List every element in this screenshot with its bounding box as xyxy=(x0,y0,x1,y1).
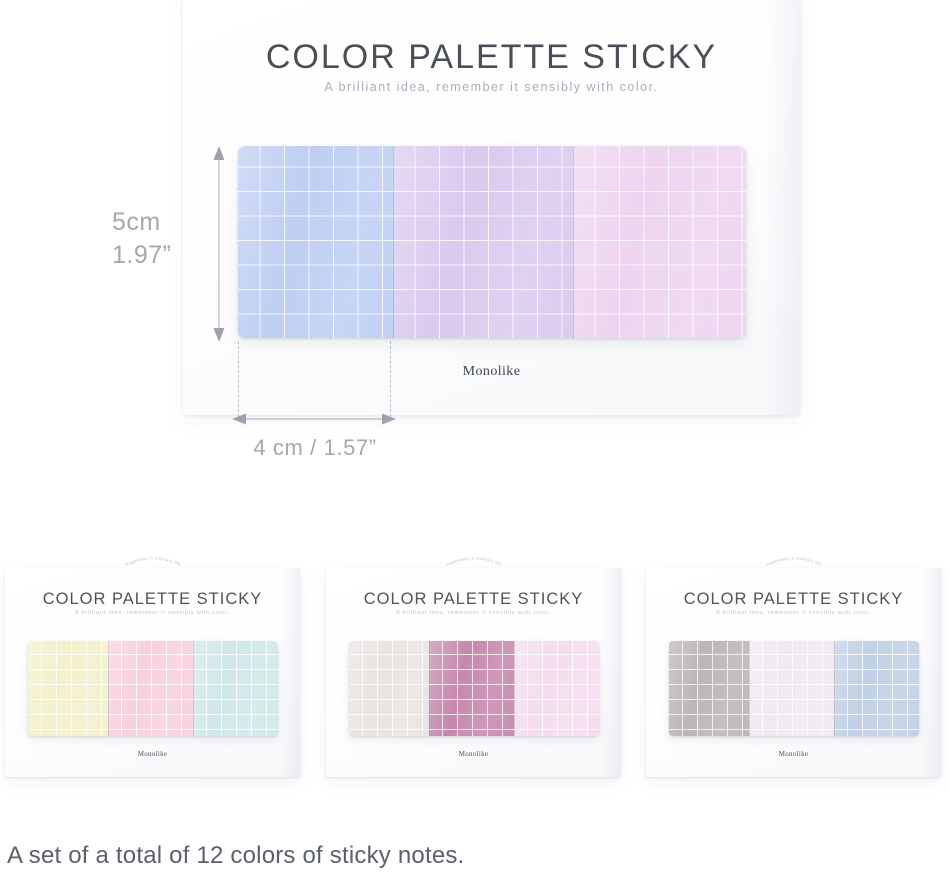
variant-1-panel-1 xyxy=(28,641,108,736)
svg-text:Happiness in ordinary life: Happiness in ordinary life xyxy=(124,556,182,568)
variant-2-panel-1 xyxy=(349,641,429,736)
variant-2-subtitle: A brilliant idea, remember it sensibly w… xyxy=(326,610,621,616)
variant-1-brand-label: Monolike xyxy=(5,750,300,758)
height-dimension-in: 1.97” xyxy=(112,239,204,272)
variant-2-sticky-strip xyxy=(349,641,599,736)
hero-brand-label: Monolike xyxy=(183,364,800,380)
variant-2-panel-3-sheen xyxy=(514,641,599,736)
height-dimension-label: 5cm 1.97” xyxy=(112,206,204,273)
variant-card-3[interactable]: Happiness in ordinary life COLOR PALETTE… xyxy=(646,568,941,777)
variant-1-panel-2-sheen xyxy=(108,641,193,736)
variant-2-panel-3 xyxy=(514,641,599,736)
hero-product-card: Happiness in ordinary life COLOR PALETTE… xyxy=(183,0,800,415)
hero-panel-1-sheen xyxy=(238,146,393,338)
variant-3-title: COLOR PALETTE STICKY xyxy=(646,590,941,609)
variant-3-panel-1-sheen xyxy=(669,641,749,736)
variant-1-panel-3 xyxy=(193,641,278,736)
variant-2-panel-2 xyxy=(429,641,514,736)
variant-1-panel-1-sheen xyxy=(28,641,108,736)
variant-2-brand-label: Monolike xyxy=(326,750,621,758)
hero-panel-1 xyxy=(238,146,393,338)
hero-section: Happiness in ordinary life COLOR PALETTE… xyxy=(0,0,950,500)
svg-text:Happiness in ordinary life: Happiness in ordinary life xyxy=(765,556,823,568)
height-dimension-arrow-icon xyxy=(212,146,226,342)
variant-card-1[interactable]: Happiness in ordinary life COLOR PALETTE… xyxy=(5,568,300,777)
hero-panel-2-sheen xyxy=(393,146,573,338)
hero-subtitle: A brilliant idea, remember it sensibly w… xyxy=(183,80,800,94)
hero-panel-3 xyxy=(573,146,746,338)
svg-text:Happiness in ordinary life: Happiness in ordinary life xyxy=(445,556,503,568)
variant-3-arc-text: Happiness in ordinary life xyxy=(765,556,823,568)
variant-3-panel-3-sheen xyxy=(834,641,919,736)
variant-2-arc-text: Happiness in ordinary life xyxy=(445,556,503,568)
variant-3-panel-2 xyxy=(749,641,834,736)
variant-3-brand-label: Monolike xyxy=(646,750,941,758)
hero-panel-3-sheen xyxy=(573,146,746,338)
variant-card-list: Happiness in ordinary life COLOR PALETTE… xyxy=(0,568,950,784)
variant-3-panel-2-sheen xyxy=(749,641,834,736)
variant-3-subtitle: A brilliant idea, remember it sensibly w… xyxy=(646,610,941,616)
variant-3-sticky-strip xyxy=(669,641,919,736)
variant-1-subtitle: A brilliant idea, remember it sensibly w… xyxy=(5,610,300,616)
variant-1-sticky-strip xyxy=(28,641,278,736)
variant-1-arc-text: Happiness in ordinary life xyxy=(124,556,182,568)
variant-2-panel-1-sheen xyxy=(349,641,429,736)
page-caption: A set of a total of 12 colors of sticky … xyxy=(7,842,464,870)
variant-3-panel-1 xyxy=(669,641,749,736)
variant-2-title: COLOR PALETTE STICKY xyxy=(326,590,621,609)
width-leader-line-right xyxy=(390,341,391,417)
hero-sticky-strip xyxy=(238,146,746,338)
variant-1-title: COLOR PALETTE STICKY xyxy=(5,590,300,609)
variant-card-2[interactable]: Happiness in ordinary life COLOR PALETTE… xyxy=(326,568,621,777)
variant-1-panel-3-sheen xyxy=(193,641,278,736)
variant-2-panel-2-sheen xyxy=(429,641,514,736)
hero-panel-2 xyxy=(393,146,573,338)
hero-title: COLOR PALETTE STICKY xyxy=(183,38,800,77)
width-leader-line-left xyxy=(238,341,239,417)
height-dimension-cm: 5cm xyxy=(112,206,204,239)
width-dimension-label: 4 cm / 1.57” xyxy=(200,435,430,461)
variant-3-panel-3 xyxy=(834,641,919,736)
width-dimension-arrow-icon xyxy=(232,412,396,426)
variant-1-panel-2 xyxy=(108,641,193,736)
